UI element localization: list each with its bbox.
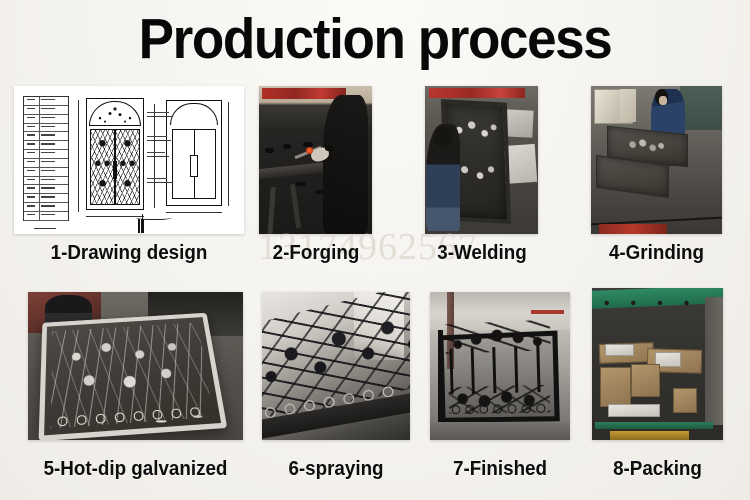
workshop-banner [429, 88, 525, 98]
step-caption-8: 8-Packing [596, 458, 719, 480]
workshop-banner [262, 88, 346, 99]
step-image-forging[interactable] [259, 86, 372, 234]
work-bench [259, 162, 326, 180]
step-image-drawing-design[interactable] [14, 86, 244, 234]
forging-worker [323, 95, 368, 234]
drawing-sheet [14, 86, 244, 234]
step-caption-6: 6-spraying [266, 458, 405, 480]
spec-table [23, 96, 69, 221]
step-image-grinding[interactable] [591, 86, 722, 234]
step-image-welding[interactable] [425, 86, 538, 234]
step-caption-1: 1-Drawing design [21, 242, 237, 264]
step-image-hot-dip-galvanized[interactable] [28, 292, 243, 440]
step-image-spraying[interactable] [262, 292, 410, 440]
hot-metal-glow [305, 147, 314, 154]
step-caption-5: 5-Hot-dip galvanized [25, 458, 246, 480]
hinge-detail [138, 219, 144, 233]
step-caption-4: 4-Grinding [595, 242, 718, 264]
gate-elevation-drawing [86, 98, 144, 210]
step-caption-2: 2-Forging [256, 242, 376, 264]
page-title: Production process [26, 8, 724, 70]
gate-section-drawing [166, 100, 222, 206]
production-process-poster: Production process [0, 0, 750, 500]
step-image-finished[interactable] [430, 292, 570, 440]
step-caption-7: 7-Finished [425, 458, 575, 480]
step-caption-3: 3-Welding [422, 242, 542, 264]
step-image-packing[interactable] [592, 288, 723, 440]
finished-gate [439, 331, 561, 423]
